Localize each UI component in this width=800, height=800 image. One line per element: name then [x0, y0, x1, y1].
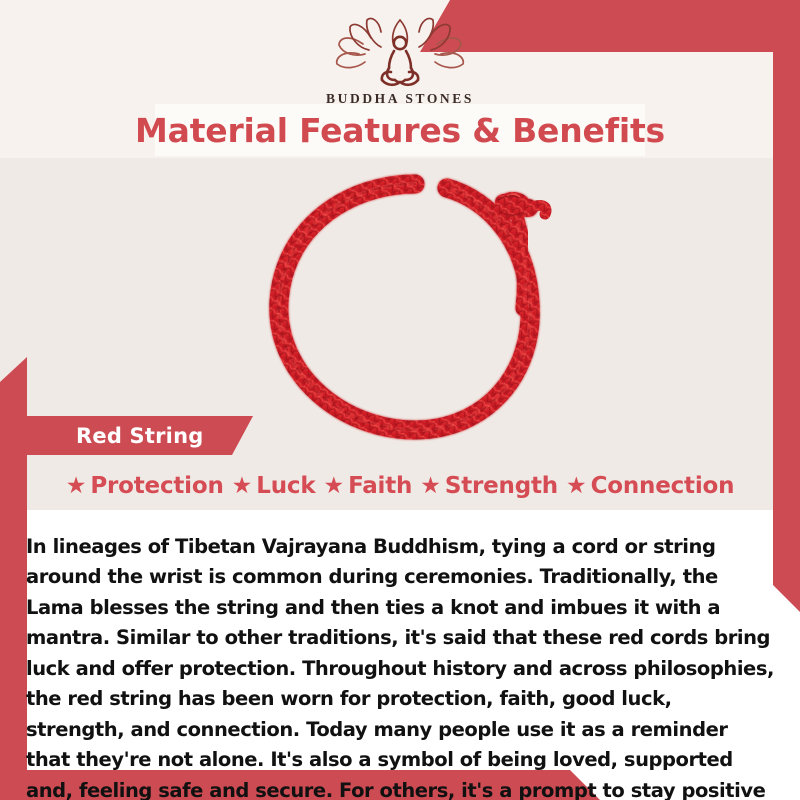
product-label-banner: Red String: [18, 416, 253, 455]
feature-item-connection: ★ Connection: [566, 473, 734, 499]
star-icon: ★: [232, 474, 253, 497]
feature-item-faith: ★ Faith: [323, 473, 412, 499]
page-title: Material Features & Benefits: [135, 111, 665, 150]
star-icon: ★: [566, 474, 587, 497]
feature-label: Protection: [90, 473, 223, 499]
product-image-red-string-bracelet: [252, 162, 578, 450]
feature-item-strength: ★ Strength: [420, 473, 558, 499]
product-label-text: Red String: [18, 424, 203, 448]
star-icon: ★: [420, 474, 441, 497]
description-paragraph: In lineages of Tibetan Vajrayana Buddhis…: [26, 532, 774, 800]
feature-list: ★ Protection ★ Luck ★ Faith ★ Strength ★…: [0, 466, 800, 506]
title-banner: Material Features & Benefits: [155, 104, 645, 156]
star-icon: ★: [323, 474, 344, 497]
feature-item-protection: ★ Protection: [66, 473, 224, 499]
feature-label: Strength: [445, 473, 558, 499]
infographic-page: BUDDHA STONES Material Features & Benefi…: [0, 0, 800, 800]
feature-label: Faith: [348, 473, 412, 499]
feature-label: Luck: [256, 473, 315, 499]
star-icon: ★: [66, 474, 87, 497]
brand-lockup: BUDDHA STONES: [0, 14, 800, 107]
feature-item-luck: ★ Luck: [232, 473, 316, 499]
lotus-meditation-figure-icon: [325, 14, 475, 88]
feature-label: Connection: [591, 473, 735, 499]
